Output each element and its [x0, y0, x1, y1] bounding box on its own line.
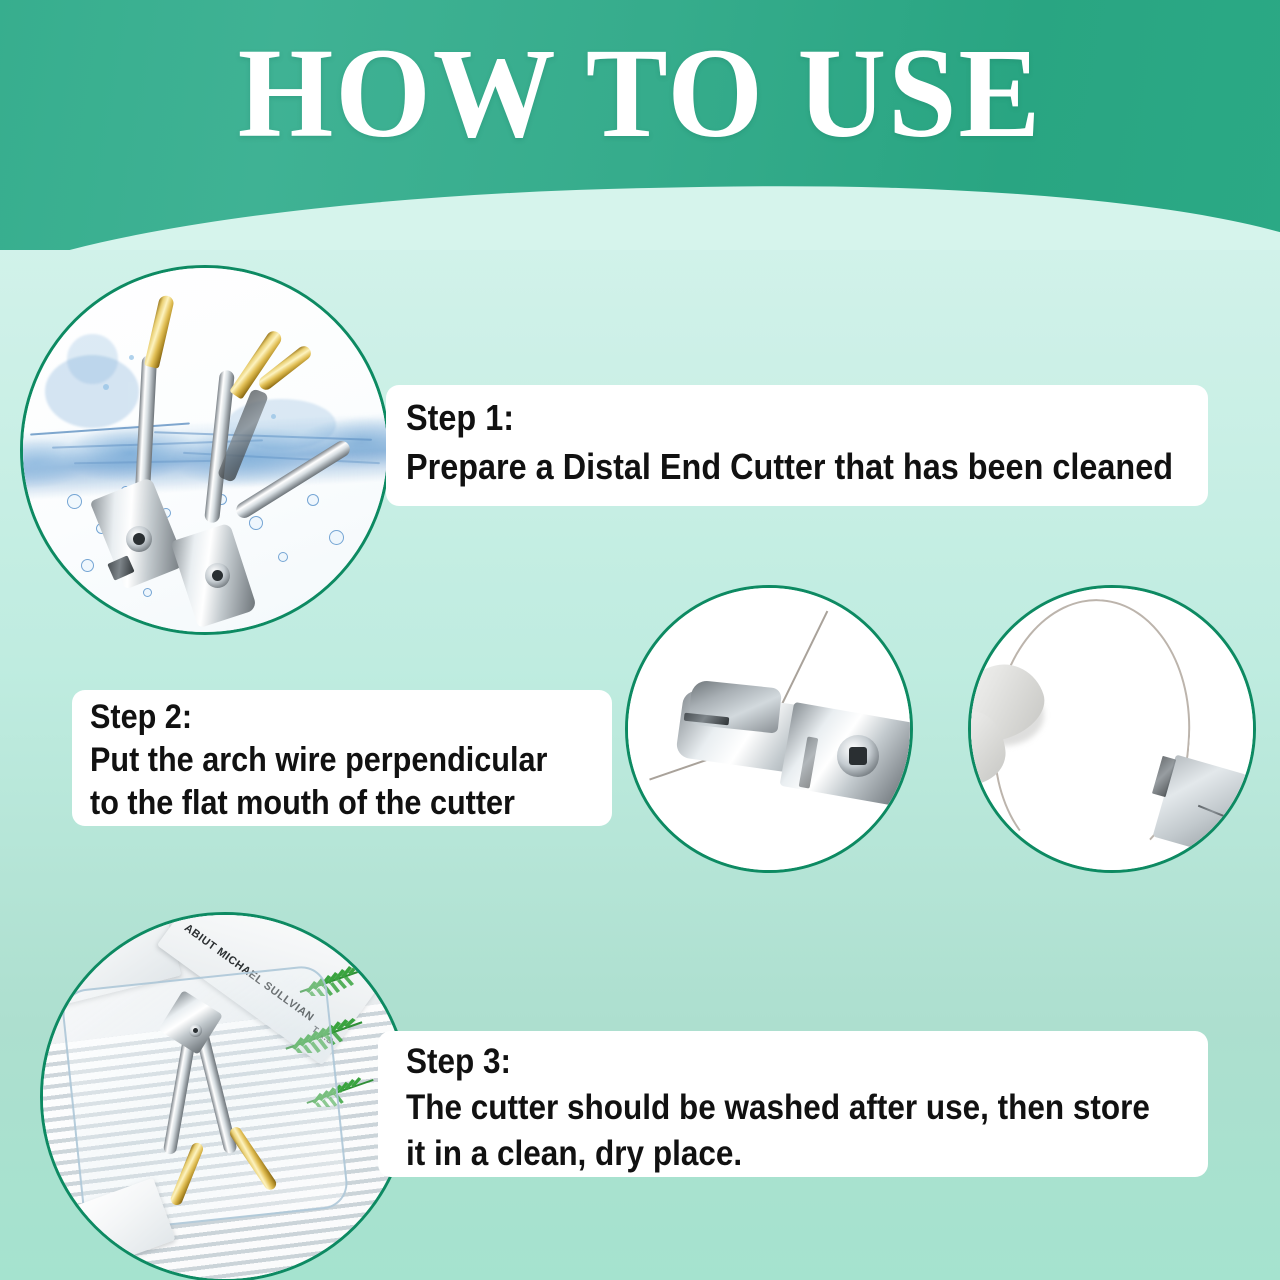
- step2-description-line1: Put the arch wire perpendicular: [90, 739, 547, 782]
- cutter-pivot-screw: [849, 747, 867, 765]
- step3-image-circle: ABIUT MICHAEL SULLVIAN T.K.S: [40, 912, 410, 1280]
- cutter-pivot: [189, 1024, 202, 1037]
- cutter-jaw-upper: [688, 679, 782, 733]
- photo-cutter-stored-in-clear-box: ABIUT MICHAEL SULLVIAN T.K.S: [43, 915, 407, 1279]
- cutter-pivot: [205, 563, 230, 588]
- step1-image-circle: [20, 265, 390, 635]
- step1-text-block: Step 1: Prepare a Distal End Cutter that…: [406, 393, 1173, 491]
- step3-text-block: Step 3: The cutter should be washed afte…: [406, 1039, 1150, 1177]
- photo-distal-end-cutters-in-water: [23, 268, 387, 632]
- step2-label: Step 2:: [90, 696, 547, 739]
- infographic-page: HOW TO USE: [0, 0, 1280, 1280]
- cutter-arm-steel: [233, 438, 353, 521]
- cutter-pivot-screw: [193, 1028, 198, 1033]
- step1-label: Step 1:: [406, 393, 1173, 442]
- step1-description: Prepare a Distal End Cutter that has bee…: [406, 442, 1173, 491]
- photo-cutter-head-closeup-with-wire: [628, 588, 910, 870]
- cutter-pivot: [837, 735, 879, 777]
- header-banner: HOW TO USE: [0, 0, 1280, 250]
- photo-arch-wire-held-by-gloved-hand: [971, 588, 1253, 870]
- step3-description-line1: The cutter should be washed after use, t…: [406, 1085, 1150, 1131]
- step3-label: Step 3:: [406, 1039, 1150, 1085]
- step2-text-panel: Step 2: Put the arch wire perpendicular …: [72, 690, 612, 826]
- arch-wire: [777, 611, 828, 713]
- page-title: HOW TO USE: [26, 34, 1255, 152]
- step2-image-circle-a: [625, 585, 913, 873]
- step2-image-circle-b: [968, 585, 1256, 873]
- cutter-pivot-screw: [212, 570, 223, 581]
- step1-text-panel: Step 1: Prepare a Distal End Cutter that…: [386, 385, 1208, 506]
- step2-description-line2: to the flat mouth of the cutter: [90, 782, 547, 825]
- cutter-right: [23, 268, 387, 632]
- step3-text-panel: Step 3: The cutter should be washed afte…: [378, 1031, 1208, 1177]
- step2-text-block: Step 2: Put the arch wire perpendicular …: [90, 696, 547, 825]
- step3-description-line2: it in a clean, dry place.: [406, 1131, 1150, 1177]
